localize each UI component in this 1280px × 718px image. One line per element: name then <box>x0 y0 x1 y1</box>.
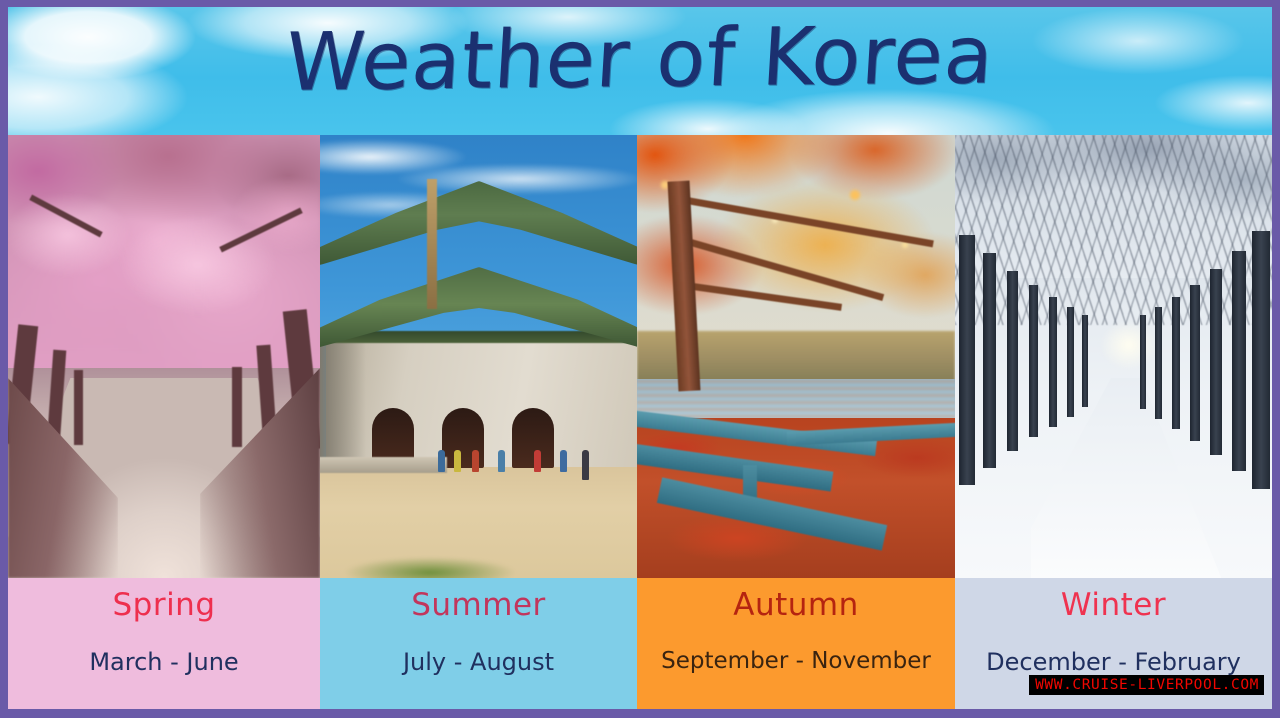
page-title: Weather of Korea <box>8 7 1272 116</box>
summer-visitor-figure <box>438 450 445 472</box>
winter-tree-trunk <box>959 235 975 485</box>
header-sky-banner: Weather of Korea <box>8 7 1272 135</box>
season-photo-spring[interactable] <box>8 135 320 578</box>
season-months-winter: December - February <box>986 648 1241 676</box>
spring-tree-trunk <box>232 367 242 447</box>
spring-tree-trunk <box>74 370 83 445</box>
winter-tree-trunk <box>1190 285 1200 441</box>
season-photo-summer[interactable] <box>320 135 637 578</box>
summer-scene <box>320 135 637 578</box>
winter-tree-trunk <box>1067 307 1074 417</box>
winter-tree-trunk <box>1029 285 1038 437</box>
summer-visitor-figure <box>560 450 567 472</box>
summer-visitor-figure <box>454 450 461 472</box>
winter-tree-trunk <box>1007 271 1018 451</box>
season-photo-autumn[interactable] <box>637 135 955 578</box>
season-photo-row <box>8 135 1272 578</box>
season-name-winter: Winter <box>1061 588 1166 622</box>
winter-tree-trunk <box>1140 315 1146 409</box>
season-name-autumn: Autumn <box>733 588 859 622</box>
season-label-spring[interactable]: Spring March - June <box>8 578 320 709</box>
summer-grass-patch <box>330 546 530 578</box>
season-months-autumn: September - November <box>661 648 931 674</box>
winter-tree-trunk <box>1210 269 1222 455</box>
autumn-scene <box>637 135 955 578</box>
season-label-autumn[interactable]: Autumn September - November <box>637 578 955 709</box>
winter-branch-network <box>955 135 1272 325</box>
season-months-summer: July - August <box>403 648 554 676</box>
season-name-summer: Summer <box>411 588 546 622</box>
season-months-spring: March - June <box>89 648 238 676</box>
summer-roof-ridge <box>427 179 437 309</box>
winter-tree-trunk <box>1049 297 1057 427</box>
summer-gate-arch <box>512 408 554 468</box>
poster-inner: Weather of Korea <box>8 7 1272 709</box>
summer-wall-shadow <box>320 339 366 469</box>
winter-tree-trunk <box>1252 231 1270 489</box>
summer-visitor-figure <box>534 450 541 472</box>
summer-stone-balustrade <box>320 457 447 473</box>
summer-visitor-figure <box>498 450 505 472</box>
site-watermark: WWW.CRUISE-LIVERPOOL.COM <box>1029 675 1264 696</box>
summer-visitor-figure <box>472 450 479 472</box>
season-label-summer[interactable]: Summer July - August <box>320 578 637 709</box>
season-photo-winter[interactable] <box>955 135 1272 578</box>
spring-blossom-haze <box>8 175 320 375</box>
spring-scene <box>8 135 320 578</box>
winter-tree-trunk <box>1155 307 1162 419</box>
summer-visitor-figure <box>582 450 589 480</box>
winter-scene <box>955 135 1272 578</box>
winter-tree-trunk <box>1172 297 1180 429</box>
season-name-spring: Spring <box>112 588 215 622</box>
winter-tree-trunk <box>1232 251 1246 471</box>
winter-tree-trunk <box>1082 315 1088 407</box>
winter-tree-trunk <box>983 253 996 468</box>
poster-frame: Weather of Korea <box>0 0 1280 718</box>
